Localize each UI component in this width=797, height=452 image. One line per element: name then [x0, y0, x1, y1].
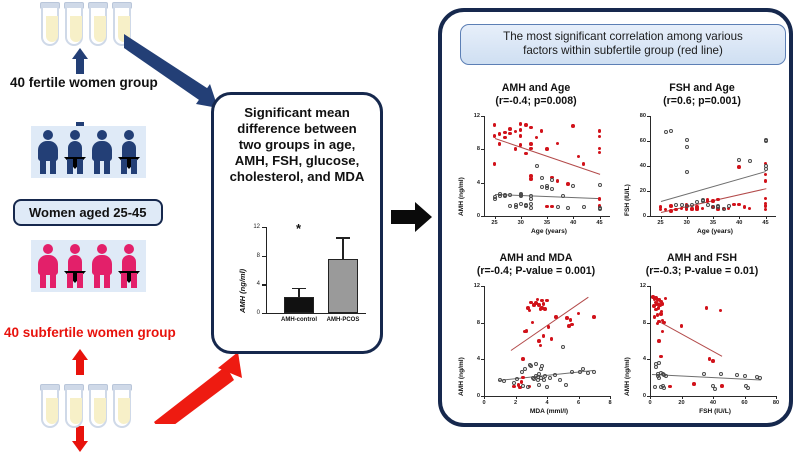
data-point-subfertile	[524, 123, 528, 127]
y-tick-label: 4	[468, 180, 480, 186]
tube-body	[89, 390, 107, 428]
y-tick-label: 60	[634, 138, 646, 144]
x-tick-label: 6	[574, 400, 584, 406]
data-point-fertile	[545, 385, 549, 389]
scatter-plot-amh-fsh: AMH and FSH(r=-0.3; P-value = 0.01)02040…	[620, 252, 784, 422]
data-point-subfertile	[529, 142, 533, 146]
data-point-fertile	[537, 383, 541, 387]
data-point-subfertile	[680, 207, 684, 211]
x-tick-label: 4	[542, 400, 552, 406]
x-tick-label: 2	[511, 400, 521, 406]
y-tick	[481, 396, 484, 397]
y-tick	[647, 166, 650, 167]
data-point-subfertile	[669, 209, 673, 213]
x-tick	[650, 396, 651, 399]
data-point-fertile	[503, 194, 507, 198]
x-tick-label: 80	[771, 400, 781, 406]
woman-head	[97, 130, 107, 140]
scatter-plot-amh-mda: AMH and MDA(r=-0.4; P-value = 0.001)0246…	[454, 252, 618, 422]
data-point-subfertile	[664, 297, 668, 301]
data-point-fertile	[535, 164, 539, 168]
data-point-fertile	[662, 386, 666, 390]
data-point-fertile	[502, 379, 506, 383]
data-point-subfertile	[669, 204, 673, 208]
x-tick	[713, 396, 714, 399]
blood-sample-tubes-fertile	[40, 2, 132, 46]
data-point-subfertile	[503, 131, 507, 135]
x-tick	[547, 216, 548, 219]
data-point-subfertile	[764, 208, 768, 212]
blood-sample-tubes-subfertile	[40, 384, 132, 428]
data-point-subfertile	[536, 298, 540, 302]
woman-icon	[118, 130, 140, 174]
y-tick-label: 4	[468, 356, 480, 362]
x-tick-label: 40	[734, 220, 744, 226]
data-point-subfertile	[695, 205, 699, 209]
data-point-fertile	[556, 205, 560, 209]
data-point-fertile	[758, 376, 762, 380]
woman-legs	[94, 273, 110, 288]
data-point-fertile	[764, 167, 768, 171]
x-tick	[610, 396, 611, 399]
x-axis-label: Age (years)	[687, 228, 743, 235]
data-point-fertile	[664, 130, 668, 134]
plot-title-line-2: (r=-0.4; p=0.008)	[454, 95, 618, 108]
bar-y-axis-label: AMH (ng/ml)	[238, 269, 247, 313]
tube-fluid	[46, 16, 58, 42]
data-point-subfertile	[598, 197, 602, 201]
data-point-fertile	[540, 185, 544, 189]
y-tick	[647, 286, 650, 287]
black-right-arrow	[391, 200, 433, 234]
woman-icon	[118, 244, 140, 288]
data-point-fertile	[592, 370, 596, 374]
data-point-fertile	[702, 372, 706, 376]
y-tick-label: 80	[634, 113, 646, 119]
data-point-subfertile	[539, 344, 543, 348]
bar-y-tick	[262, 256, 266, 257]
significance-star: *	[296, 221, 301, 236]
y-tick-label: 20	[634, 188, 646, 194]
center-text-line-2: difference between	[222, 121, 372, 137]
y-tick-label: 0	[468, 393, 480, 399]
data-point-fertile	[520, 370, 524, 374]
data-point-fertile	[727, 204, 731, 208]
data-point-subfertile	[550, 205, 554, 209]
plot-title-line-2: (r=0.6; p=0.001)	[620, 95, 784, 108]
woman-head	[124, 244, 134, 254]
data-point-subfertile	[524, 152, 528, 156]
data-point-fertile	[764, 139, 768, 143]
data-point-subfertile	[598, 129, 602, 133]
data-point-subfertile	[521, 376, 525, 380]
x-tick-label: 40	[568, 220, 578, 226]
y-tick	[481, 286, 484, 287]
bar-1	[328, 259, 358, 313]
data-point-subfertile	[493, 123, 497, 127]
data-point-fertile	[498, 378, 502, 382]
x-tick	[516, 396, 517, 399]
x-tick	[579, 396, 580, 399]
data-point-fertile	[719, 372, 723, 376]
data-point-fertile	[561, 345, 565, 349]
woman-icon	[64, 244, 86, 288]
data-point-subfertile	[657, 339, 661, 343]
data-point-subfertile	[529, 126, 533, 130]
y-tick-label: 12	[468, 113, 480, 119]
data-point-fertile	[654, 365, 658, 369]
tube-fluid	[118, 398, 130, 424]
plot-title-line-1: AMH and Age	[454, 82, 618, 95]
data-point-fertile	[529, 202, 533, 206]
y-axis	[484, 116, 485, 216]
plot-title: AMH and Age(r=-0.4; p=0.008)	[454, 82, 618, 107]
data-point-fertile	[545, 184, 549, 188]
data-point-fertile	[550, 187, 554, 191]
data-point-fertile	[570, 370, 574, 374]
woman-body	[68, 255, 82, 275]
x-tick	[687, 216, 688, 219]
bar-y-tick-label: 8	[257, 253, 260, 259]
data-point-fertile	[669, 129, 673, 133]
woman-legs	[67, 273, 83, 288]
tube-fluid	[70, 398, 82, 424]
panel-caption: The most significant correlation among v…	[460, 24, 786, 65]
scatter-plot-amh-age: AMH and Age(r=-0.4; p=0.008)253035404504…	[454, 82, 618, 242]
data-point-subfertile	[711, 199, 715, 203]
data-point-subfertile	[543, 307, 547, 311]
data-point-subfertile	[716, 198, 720, 202]
data-point-subfertile	[737, 165, 741, 169]
data-point-subfertile	[521, 357, 525, 361]
data-point-fertile	[548, 376, 552, 380]
data-point-fertile	[540, 176, 544, 180]
x-tick	[776, 396, 777, 399]
data-point-subfertile	[711, 359, 715, 363]
x-tick	[521, 216, 522, 219]
woman-icon	[37, 244, 59, 288]
data-point-subfertile	[764, 179, 768, 183]
data-point-fertile	[564, 383, 568, 387]
data-point-subfertile	[503, 136, 507, 140]
x-tick-label: 25	[490, 220, 500, 226]
y-axis	[650, 116, 651, 216]
center-text-line-5: cholesterol, and MDA	[222, 169, 372, 185]
x-tick-label: 25	[656, 220, 666, 226]
x-tick-label: 8	[605, 400, 615, 406]
woman-head	[97, 244, 107, 254]
y-tick-label: 12	[468, 283, 480, 289]
data-point-fertile	[550, 178, 554, 182]
data-point-fertile	[524, 204, 528, 208]
data-point-subfertile	[577, 312, 581, 316]
data-point-subfertile	[577, 155, 581, 159]
data-point-fertile	[685, 204, 689, 208]
data-point-fertile	[493, 195, 497, 199]
data-point-fertile	[571, 184, 575, 188]
y-tick-label: 4	[634, 356, 646, 362]
woman-head	[43, 244, 53, 254]
data-point-subfertile	[498, 132, 502, 136]
woman-head	[43, 130, 53, 140]
trendline-red	[659, 321, 723, 357]
data-point-fertile	[743, 374, 747, 378]
x-tick	[547, 396, 548, 399]
data-point-subfertile	[514, 147, 518, 151]
x-tick-label: 40	[708, 400, 718, 406]
bar-errorbar-1	[342, 237, 344, 259]
data-point-subfertile	[556, 179, 560, 183]
navy-up-arrow	[72, 48, 88, 74]
data-point-subfertile	[668, 385, 672, 389]
data-point-subfertile	[764, 173, 768, 177]
x-tick	[739, 216, 740, 219]
data-point-subfertile	[537, 339, 541, 343]
data-point-fertile	[713, 387, 717, 391]
plot-title-line-2: (r=-0.4; P-value = 0.001)	[454, 265, 618, 278]
correlation-panel: The most significant correlation among v…	[438, 8, 793, 427]
data-point-subfertile	[598, 147, 602, 151]
x-tick-label: 0	[479, 400, 489, 406]
plot-title: AMH and FSH(r=-0.3; P-value = 0.01)	[620, 252, 784, 277]
center-summary-box: Significant mean difference between two …	[211, 92, 383, 354]
bar-y-tick-label: 12	[253, 224, 260, 230]
data-point-fertile	[653, 385, 657, 389]
data-point-subfertile	[535, 136, 539, 140]
woman-body	[122, 255, 136, 275]
data-point-subfertile	[512, 385, 516, 389]
data-point-subfertile	[570, 323, 574, 327]
data-point-subfertile	[661, 330, 665, 334]
bar-y-tick	[262, 284, 266, 285]
data-point-fertile	[664, 374, 668, 378]
sample-tube	[40, 2, 60, 46]
data-point-subfertile	[569, 318, 573, 322]
trendline-red	[510, 297, 588, 351]
data-point-fertile	[521, 384, 525, 388]
y-tick	[647, 216, 650, 217]
woman-legs	[121, 159, 137, 174]
woman-legs	[94, 159, 110, 174]
woman-icon	[91, 244, 113, 288]
bar-x-label-1: AMH-PCOS	[318, 317, 368, 323]
plot-title-line-1: FSH and Age	[620, 82, 784, 95]
x-tick	[573, 216, 574, 219]
x-tick-label: 30	[682, 220, 692, 226]
bar-y-axis	[266, 227, 267, 313]
data-point-subfertile	[598, 151, 602, 155]
x-tick	[484, 396, 485, 399]
red-down-arrow	[72, 426, 88, 452]
data-point-subfertile	[545, 205, 549, 209]
y-axis-label: AMH (ng/ml)	[458, 177, 465, 216]
woman-legs	[40, 273, 56, 288]
y-tick-label: 8	[634, 320, 646, 326]
plot-title-line-1: AMH and MDA	[454, 252, 618, 265]
woman-head	[124, 130, 134, 140]
x-axis-label: FSH (IU/L)	[687, 408, 743, 415]
data-point-subfertile	[701, 207, 705, 211]
age-range-box: Women aged 25-45	[13, 199, 163, 226]
data-point-fertile	[519, 202, 523, 206]
data-point-subfertile	[737, 203, 741, 207]
sample-tube	[88, 2, 108, 46]
y-tick-label: 0	[634, 213, 646, 219]
data-point-fertile	[553, 373, 557, 377]
data-point-subfertile	[556, 142, 560, 146]
data-point-subfertile	[514, 130, 518, 134]
center-summary-text: Significant mean difference between two …	[214, 95, 380, 185]
data-point-fertile	[514, 203, 518, 207]
y-tick	[647, 359, 650, 360]
data-point-fertile	[529, 197, 533, 201]
data-point-subfertile	[529, 177, 533, 181]
data-point-subfertile	[545, 147, 549, 151]
y-tick-label: 8	[468, 320, 480, 326]
y-axis-label: FSH (IU/L)	[624, 184, 631, 216]
data-point-subfertile	[659, 355, 663, 359]
data-point-fertile	[711, 205, 715, 209]
y-tick	[647, 396, 650, 397]
x-tick	[745, 396, 746, 399]
data-point-fertile	[735, 373, 739, 377]
y-axis	[650, 286, 651, 396]
data-point-fertile	[685, 170, 689, 174]
y-tick	[481, 149, 484, 150]
woman-legs	[121, 273, 137, 288]
bar-x-axis	[266, 313, 366, 314]
x-tick	[495, 216, 496, 219]
data-point-subfertile	[508, 127, 512, 131]
x-tick-label: 35	[708, 220, 718, 226]
y-tick	[481, 116, 484, 117]
data-point-subfertile	[542, 302, 546, 306]
data-point-subfertile	[764, 197, 768, 201]
plot-title-line-2: (r=-0.3; P-value = 0.01)	[620, 265, 784, 278]
bar-0	[284, 297, 314, 313]
bar-y-tick	[262, 313, 266, 314]
data-point-subfertile	[732, 203, 736, 207]
woman-body	[122, 141, 136, 161]
x-tick	[766, 216, 767, 219]
data-point-subfertile	[528, 309, 532, 313]
data-point-subfertile	[550, 337, 554, 341]
tube-body	[65, 390, 83, 428]
data-point-fertile	[543, 374, 547, 378]
tube-body	[41, 8, 59, 46]
data-point-fertile	[534, 362, 538, 366]
data-point-fertile	[558, 378, 562, 382]
tube-body	[41, 390, 59, 428]
x-tick-label: 0	[645, 400, 655, 406]
center-text-line-4: AMH, FSH, glucose,	[222, 153, 372, 169]
data-point-fertile	[539, 367, 543, 371]
y-tick	[647, 323, 650, 324]
data-point-subfertile	[690, 207, 694, 211]
data-point-subfertile	[692, 382, 696, 386]
bar-y-tick	[262, 227, 266, 228]
data-point-fertile	[529, 364, 533, 368]
data-point-fertile	[586, 371, 590, 375]
red-up-arrow	[72, 349, 88, 375]
data-point-subfertile	[705, 306, 709, 310]
sample-tube	[40, 384, 60, 428]
data-point-fertile	[566, 206, 570, 210]
panel-caption-line-1: The most significant correlation among v…	[465, 30, 781, 44]
bar-errorcap-1	[336, 237, 350, 239]
plot-title: FSH and Age(r=0.6; p=0.001)	[620, 82, 784, 107]
data-point-fertile	[523, 367, 527, 371]
y-tick-label: 12	[634, 283, 646, 289]
woman-head	[70, 244, 80, 254]
data-point-fertile	[701, 199, 705, 203]
woman-body	[92, 255, 112, 275]
woman-icon	[64, 130, 86, 174]
trendline-red	[494, 138, 599, 175]
data-point-subfertile	[662, 321, 666, 325]
x-tick	[661, 216, 662, 219]
data-point-subfertile	[493, 162, 497, 166]
data-point-subfertile	[531, 321, 535, 325]
y-tick	[481, 216, 484, 217]
data-point-subfertile	[493, 134, 497, 138]
data-point-subfertile	[542, 334, 546, 338]
tube-fluid	[70, 16, 82, 42]
data-point-fertile	[706, 203, 710, 207]
y-tick	[481, 359, 484, 360]
data-point-fertile	[508, 193, 512, 197]
woman-icon	[37, 130, 59, 174]
data-point-fertile	[542, 378, 546, 382]
data-point-fertile	[515, 377, 519, 381]
trendline-grey	[660, 171, 765, 202]
data-point-fertile	[722, 207, 726, 211]
data-point-fertile	[737, 158, 741, 162]
woman-body	[38, 255, 58, 275]
y-axis-label: AMH (ng/ml)	[458, 357, 465, 396]
y-tick	[647, 141, 650, 142]
data-point-fertile	[561, 194, 565, 198]
data-point-fertile	[685, 145, 689, 149]
data-point-subfertile	[680, 324, 684, 328]
data-point-subfertile	[547, 325, 551, 329]
data-point-subfertile	[566, 182, 570, 186]
data-point-subfertile	[525, 329, 529, 333]
y-tick	[481, 183, 484, 184]
sample-tube	[112, 384, 132, 428]
y-tick-label: 0	[634, 393, 646, 399]
data-point-subfertile	[519, 143, 523, 147]
data-point-subfertile	[554, 315, 558, 319]
y-tick	[647, 116, 650, 117]
woman-body	[38, 141, 58, 161]
fertile-women-icons	[31, 126, 146, 178]
woman-legs	[67, 159, 83, 174]
data-point-subfertile	[540, 129, 544, 133]
subfertile-women-icons	[31, 240, 146, 292]
data-point-fertile	[674, 203, 678, 207]
y-axis-label: AMH (ng/ml)	[624, 357, 631, 396]
plot-title: AMH and MDA(r=-0.4; P-value = 0.001)	[454, 252, 618, 277]
x-tick-label: 20	[677, 400, 687, 406]
data-point-fertile	[657, 361, 661, 365]
data-point-fertile	[540, 364, 544, 368]
center-text-line-1: Significant mean	[222, 105, 372, 121]
x-tick	[682, 396, 683, 399]
data-point-fertile	[680, 203, 684, 207]
y-axis	[484, 286, 485, 396]
data-point-subfertile	[743, 205, 747, 209]
